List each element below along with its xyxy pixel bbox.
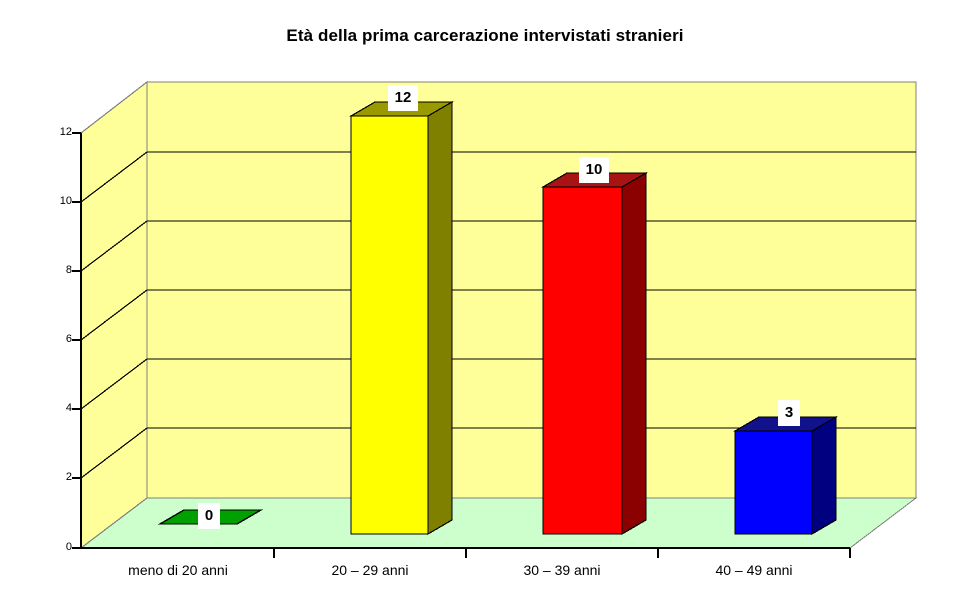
x-tick-label-meno-di-20-anni: meno di 20 anni xyxy=(82,562,274,578)
y-tick-label-6: 6 xyxy=(32,334,72,345)
bar-value-label-3: 10 xyxy=(579,157,609,183)
x-tick-label-30-39-anni: 30 – 39 anni xyxy=(466,562,658,578)
bar-20-29-anni xyxy=(351,102,452,534)
bar-2-side xyxy=(428,102,452,534)
bar-value-label-1: 0 xyxy=(198,503,220,529)
y-tick-marks xyxy=(72,133,81,548)
bar-3-front xyxy=(543,187,622,534)
bar-value-label-4: 3 xyxy=(778,400,800,426)
bar-4-front xyxy=(735,431,812,534)
x-axis-labels: meno di 20 anni 20 – 29 anni 30 – 39 ann… xyxy=(0,562,970,592)
bar-40-49-anni xyxy=(735,417,836,534)
x-tick-marks xyxy=(274,548,850,558)
bar-3-side xyxy=(622,173,646,534)
x-tick-label-20-29-anni: 20 – 29 anni xyxy=(274,562,466,578)
bar-value-label-2: 12 xyxy=(388,85,418,111)
y-tick-label-10: 10 xyxy=(32,196,72,207)
chart-canvas: Età della prima carcerazione intervistat… xyxy=(0,0,970,604)
x-tick-label-40-49-anni: 40 – 49 anni xyxy=(658,562,850,578)
bar-30-39-anni xyxy=(543,173,646,534)
plot-area-3d xyxy=(0,0,970,604)
y-axis-labels: 12 10 8 6 4 2 0 xyxy=(28,0,72,604)
y-tick-label-2: 2 xyxy=(32,472,72,483)
y-tick-label-8: 8 xyxy=(32,265,72,276)
bar-4-side xyxy=(812,417,836,534)
y-tick-label-4: 4 xyxy=(32,403,72,414)
y-tick-label-0: 0 xyxy=(32,542,72,553)
y-tick-label-12: 12 xyxy=(32,127,72,138)
bar-2-front xyxy=(351,116,428,534)
